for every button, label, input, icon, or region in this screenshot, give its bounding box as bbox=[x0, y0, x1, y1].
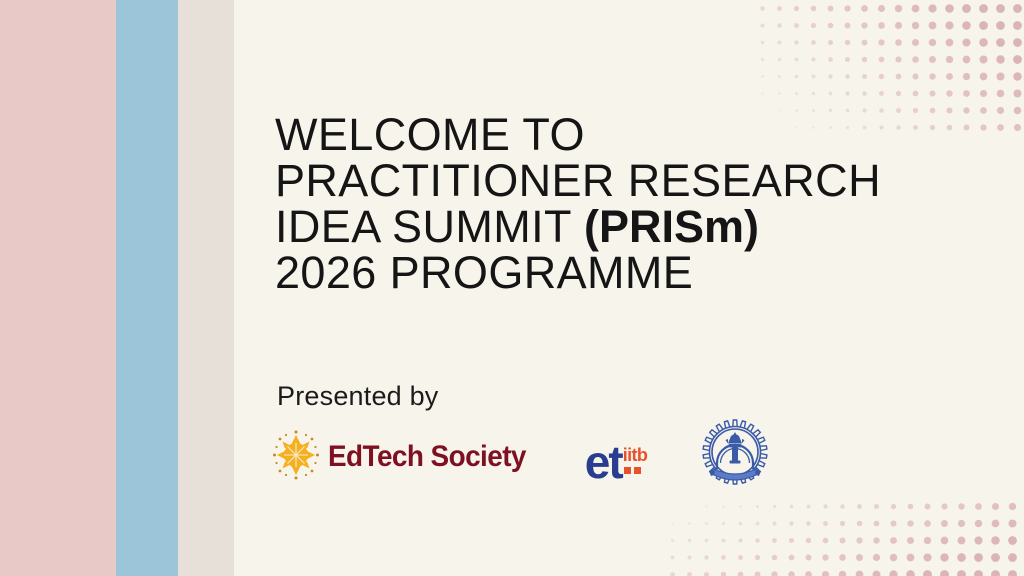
iitb-suffix-group: iitb bbox=[623, 440, 657, 480]
title-line-1: WELCOME TO bbox=[275, 112, 965, 158]
presentation-slide: WELCOME TO PRACTITIONER RESEARCH IDEA SU… bbox=[0, 0, 1024, 576]
et-letters: et bbox=[585, 442, 622, 482]
title-line-4: 2026 PROGRAMME bbox=[275, 250, 965, 296]
et-accent-square-2 bbox=[634, 467, 641, 474]
title-acronym-prism: (PRISm) bbox=[584, 201, 759, 252]
presented-by-label: Presented by bbox=[277, 381, 439, 412]
edtech-society-wordmark: EdTech Society bbox=[328, 440, 526, 474]
title-line-3-regular: IDEA SUMMIT bbox=[275, 201, 584, 252]
et-accent-square-1 bbox=[624, 467, 631, 474]
iitb-letters: iitb bbox=[623, 446, 648, 464]
sunburst-star-icon bbox=[272, 429, 320, 486]
decorative-stripe-pink bbox=[0, 0, 116, 576]
page-title: WELCOME TO PRACTITIONER RESEARCH IDEA SU… bbox=[275, 112, 965, 296]
logo-iit-bombay[interactable] bbox=[701, 424, 769, 490]
decorative-stripe-blue bbox=[116, 0, 178, 576]
title-line-3: IDEA SUMMIT (PRISm) bbox=[275, 204, 965, 250]
decorative-stripe-beige bbox=[178, 0, 234, 576]
halftone-dots-bottom-right bbox=[664, 498, 1024, 576]
iit-bombay-emblem-icon bbox=[701, 419, 769, 496]
sponsor-logo-row: EdTech Society et iitb bbox=[272, 424, 769, 490]
title-line-2: PRACTITIONER RESEARCH bbox=[275, 158, 965, 204]
logo-et-iitb[interactable]: et iitb bbox=[585, 424, 657, 490]
et-iitb-wordmark: et iitb bbox=[585, 432, 657, 482]
logo-edtech-society[interactable]: EdTech Society bbox=[272, 424, 541, 490]
